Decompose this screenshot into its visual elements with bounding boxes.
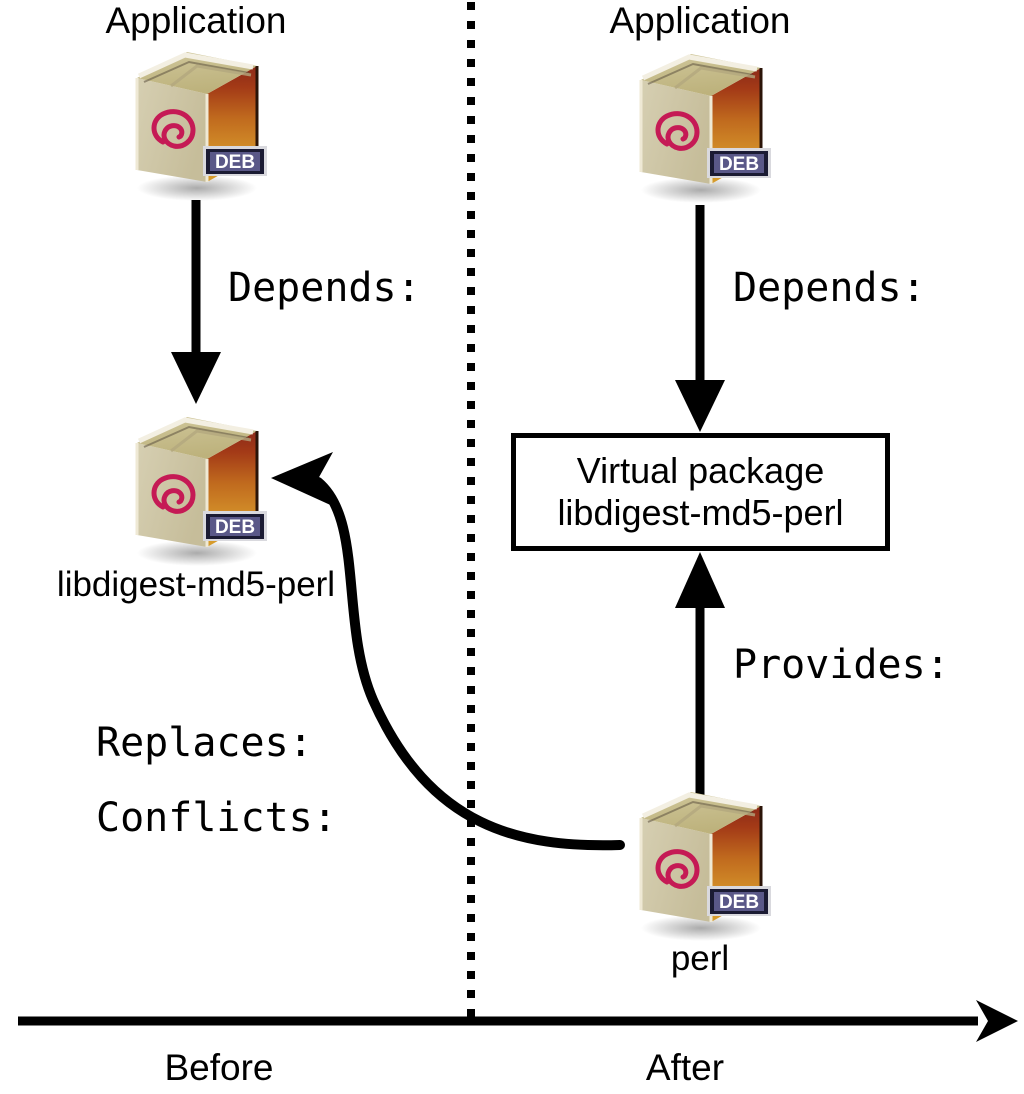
debian-package-icon-application-before: DEB [111, 42, 281, 202]
virtual-package-line-1: Virtual package [577, 450, 825, 492]
package-caption-libdigest-md5-perl: libdigest-md5-perl [57, 567, 335, 603]
package-caption-perl: perl [671, 941, 729, 977]
deb-badge: DEB [203, 511, 267, 541]
debian-package-icon-application-after: DEB [615, 44, 785, 204]
deb-badge: DEB [707, 148, 771, 178]
svg-text:DEB: DEB [719, 892, 759, 913]
relation-provides: Provides: [733, 645, 950, 686]
depends-arrow-after [675, 205, 725, 432]
page-title-after-application: Application [609, 2, 790, 40]
relation-depends-before: Depends: [228, 268, 421, 309]
deb-badge: DEB [707, 886, 771, 916]
timeline-label-before: Before [164, 1049, 273, 1087]
page-title-before-application: Application [105, 2, 286, 40]
svg-text:DEB: DEB [215, 152, 255, 173]
deb-badge: DEB [203, 146, 267, 176]
depends-arrow-before [171, 200, 221, 404]
svg-text:DEB: DEB [215, 517, 255, 538]
virtual-package-line-2: libdigest-md5-perl [557, 492, 843, 534]
debian-package-icon-perl: DEB [615, 782, 785, 942]
diagram-canvas: Application Application Depends: Depends… [0, 0, 1024, 1094]
relation-conflicts: Conflicts: [96, 798, 337, 839]
relation-depends-after: Depends: [733, 268, 926, 309]
svg-text:DEB: DEB [719, 154, 759, 175]
timeline-label-after: After [646, 1049, 724, 1087]
provides-arrow [675, 552, 725, 800]
relation-replaces: Replaces: [96, 723, 313, 764]
virtual-package-box: Virtual package libdigest-md5-perl [511, 433, 890, 551]
debian-package-icon-libdigest-md5-perl: DEB [111, 407, 281, 567]
timeline-axis [18, 1000, 1018, 1042]
